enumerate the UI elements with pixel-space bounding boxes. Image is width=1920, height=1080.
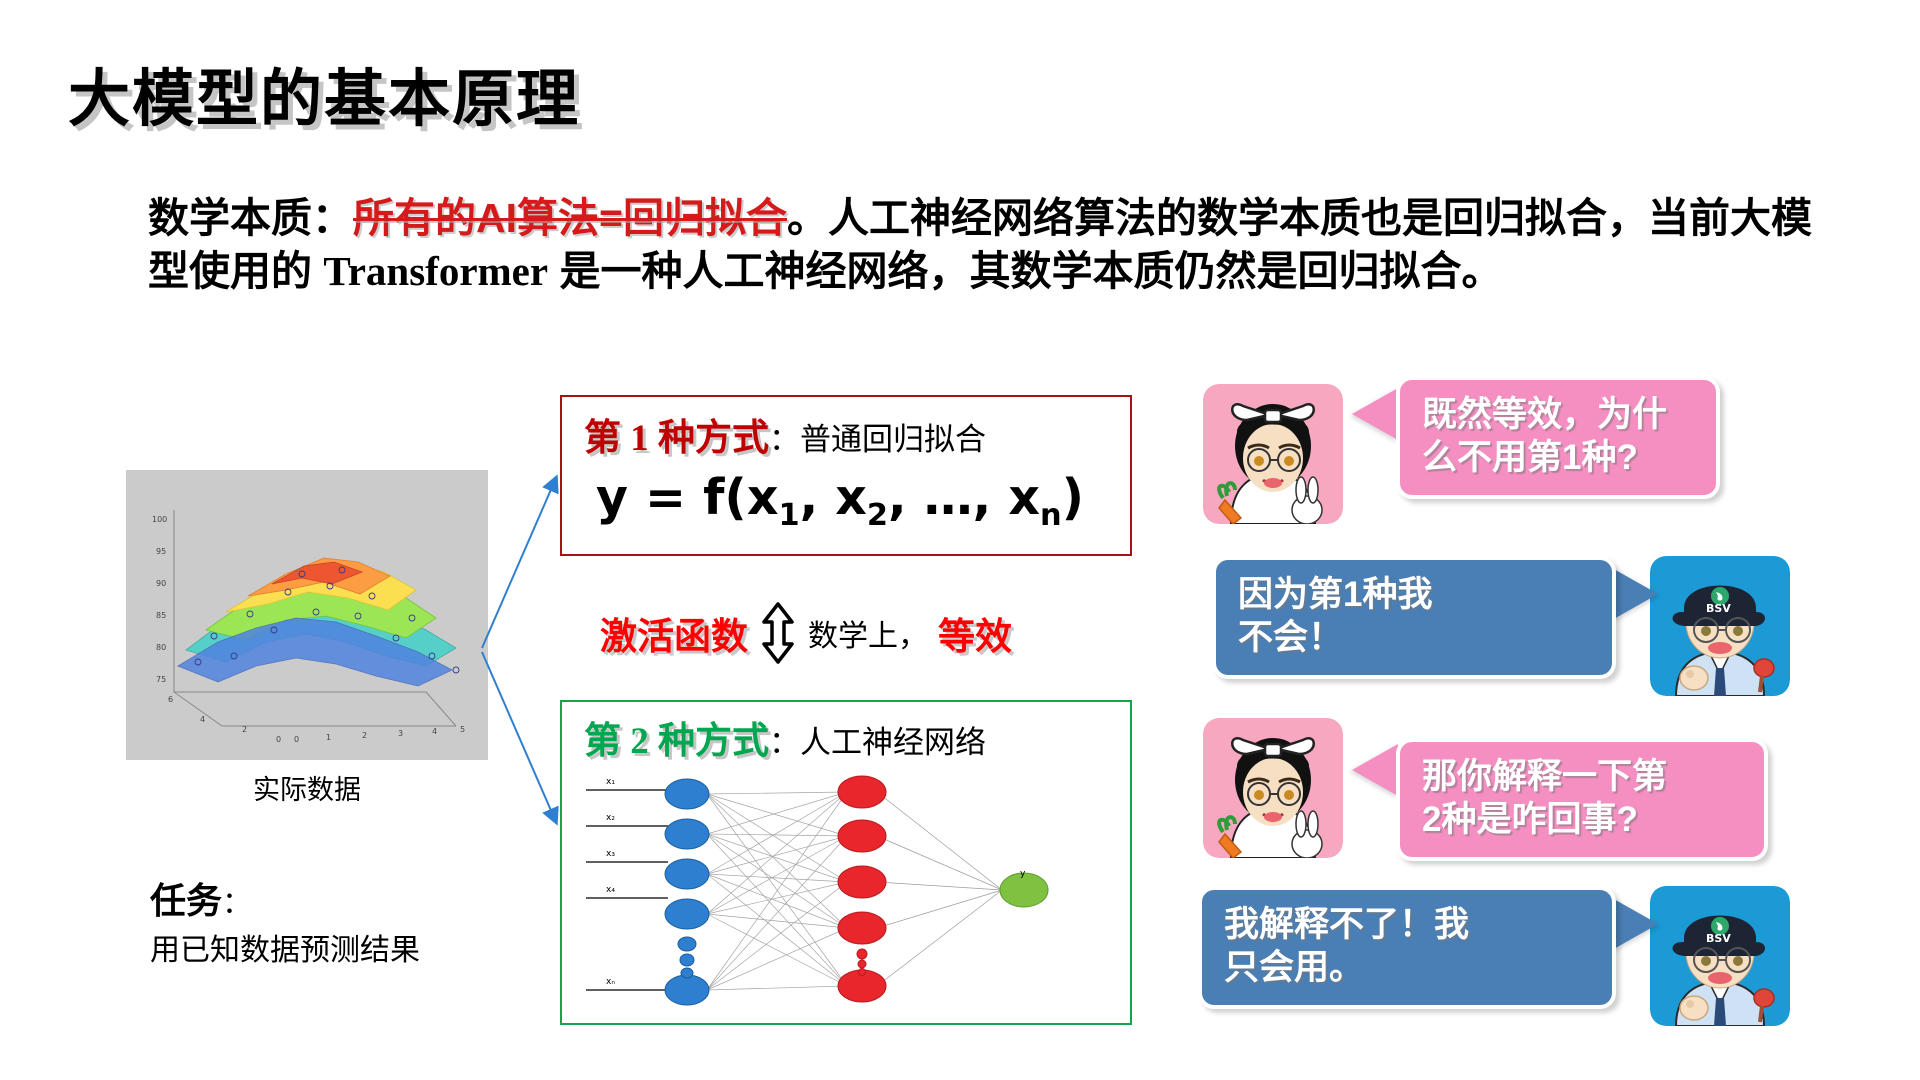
double-arrow-vertical-icon (758, 602, 798, 664)
surface-plot-image: 100 95 90 85 80 75 6 4 2 0 0 1 2 3 4 5 (126, 470, 488, 760)
svg-text:2: 2 (362, 731, 367, 740)
bubble-tail-q2 (1352, 744, 1398, 796)
bubble-q2-line2: 2种是咋回事? (1422, 799, 1744, 842)
svg-text:1: 1 (326, 733, 331, 742)
svg-text:75: 75 (156, 675, 166, 684)
svg-text:6: 6 (168, 695, 173, 704)
surface-plot-svg: 100 95 90 85 80 75 6 4 2 0 0 1 2 3 4 5 (126, 470, 488, 760)
body-line3: 仍然是回归拟合。 (1174, 248, 1502, 294)
bubble-q2-line1: 那你解释一下第 (1422, 756, 1744, 799)
formula-sub-2: 2 (867, 498, 888, 533)
method-1-subtitle: 普通回归拟合 (800, 422, 986, 457)
slide-root: 大模型的基本原理 数学本质：所有的AI算法=回归拟合。人工神经网络算法的数学本质… (0, 0, 1920, 1080)
method-1-separator: ： (769, 422, 800, 457)
svg-text:3: 3 (398, 729, 403, 738)
svg-text:BSV: BSV (1706, 932, 1731, 945)
body-rest-line1: 。人工神经网络算法的数学本质也是回 (787, 195, 1484, 241)
method-2-title: 第 2 种方式 (584, 721, 769, 762)
svg-text:x₃: x₃ (606, 849, 615, 859)
girl-avatar-icon (1203, 384, 1343, 524)
svg-text:x₁: x₁ (606, 777, 615, 787)
speech-bubble-q1: 既然等效，为什 么不用第1种? (1396, 376, 1720, 499)
boy-avatar-icon-2: BSV (1650, 886, 1790, 1026)
boy-avatar-icon: BSV (1650, 556, 1790, 696)
bubble-a1-line1: 因为第1种我 (1238, 574, 1592, 617)
method-1-title: 第 1 种方式 (584, 418, 769, 459)
bubble-a2-line2: 只会用。 (1224, 947, 1592, 990)
svg-text:85: 85 (156, 611, 166, 620)
bubble-tail-a2 (1612, 898, 1658, 950)
bubble-tail-q1 (1352, 388, 1398, 440)
method-2-separator: ： (769, 725, 800, 760)
speech-bubble-q2: 那你解释一下第 2种是咋回事? (1396, 738, 1768, 861)
bubble-a2-line1: 我解释不了！我 (1224, 904, 1592, 947)
formula-prefix: y = f(x (596, 469, 778, 526)
math-note-label: 数学上， (808, 611, 928, 655)
formula-mid-2: , …, x (888, 469, 1040, 526)
body-highlight-strikethrough: 所有的AI算法=回归拟合 (353, 195, 787, 241)
bubble-a1-line2: 不会！ (1238, 617, 1592, 660)
method-1-box: 第 1 种方式：普通回归拟合 y = f(x1, x2, …, xn) (560, 395, 1132, 556)
svg-text:80: 80 (156, 643, 166, 652)
formula-sub-1: 1 (778, 498, 799, 533)
task-label-text: 任务 (150, 880, 222, 921)
svg-text:BSV: BSV (1706, 602, 1731, 615)
formula-mid-1: , x (800, 469, 867, 526)
svg-text:0: 0 (276, 735, 281, 744)
svg-text:xₙ: xₙ (606, 977, 615, 987)
body-lead: 数学本质： (148, 195, 353, 241)
svg-text:x₂: x₂ (606, 813, 615, 823)
page-title: 大模型的基本原理 (68, 48, 580, 138)
task-label: 任务： (150, 872, 252, 924)
svg-text:5: 5 (460, 725, 465, 734)
svg-text:90: 90 (156, 579, 166, 588)
equivalent-label: 等效 (938, 606, 1012, 660)
formula-suffix: ) (1062, 469, 1084, 526)
equivalence-row: 激活函数 数学上， 等效 (600, 598, 1140, 668)
task-label-colon: ： (222, 887, 252, 920)
body-line2-b: 是一种人工神经网络，其数学本质 (548, 248, 1174, 294)
method-1-header: 第 1 种方式：普通回归拟合 (584, 407, 986, 461)
method-2-header: 第 2 种方式：人工神经网络 (584, 710, 986, 764)
bubble-q1-line1: 既然等效，为什 (1422, 394, 1696, 437)
body-paragraph: 数学本质：所有的AI算法=回归拟合。人工神经网络算法的数学本质也是回归拟合，当前… (148, 192, 1820, 299)
svg-text:y: y (1020, 869, 1026, 879)
method-2-subtitle: 人工神经网络 (800, 725, 986, 760)
svg-text:2: 2 (242, 725, 247, 734)
plot-caption: 实际数据 (126, 768, 488, 807)
method-2-box: 第 2 种方式：人工神经网络 x₁x₂ x₃x₄ xₙ (560, 700, 1132, 1025)
girl-avatar-icon-2 (1203, 718, 1343, 858)
activation-function-label: 激活函数 (600, 606, 748, 660)
svg-text:95: 95 (156, 547, 166, 556)
formula-sub-n: n (1040, 498, 1062, 533)
speech-bubble-a1: 因为第1种我 不会！ (1212, 556, 1616, 679)
task-description: 用已知数据预测结果 (150, 925, 420, 969)
svg-text:x₄: x₄ (606, 885, 615, 895)
speech-bubble-a2: 我解释不了！我 只会用。 (1198, 886, 1616, 1009)
neural-network-diagram: x₁x₂ x₃x₄ xₙ (572, 764, 1122, 1016)
method-1-formula: y = f(x1, x2, …, xn) (596, 469, 1084, 533)
bubble-q1-line2: 么不用第1种? (1422, 437, 1696, 480)
svg-text:4: 4 (200, 715, 205, 724)
svg-text:4: 4 (432, 727, 437, 736)
svg-text:100: 100 (152, 515, 167, 524)
svg-text:0: 0 (294, 735, 299, 744)
bubble-tail-a1 (1612, 568, 1658, 620)
body-line2-latin: Transformer (323, 248, 548, 294)
